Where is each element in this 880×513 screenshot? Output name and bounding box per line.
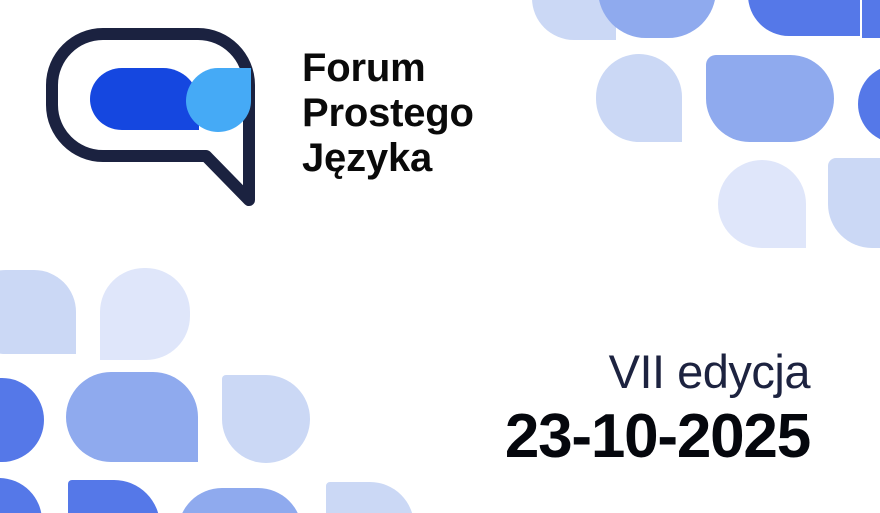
blob-tr-9: [828, 158, 880, 248]
event-date: 23-10-2025: [505, 404, 810, 469]
wordmark-line-2: Prostego: [302, 91, 474, 136]
blob-tr-3: [748, 0, 860, 36]
speech-bubble-logo-icon: [46, 28, 278, 206]
edition-label: VII edycja: [505, 347, 810, 396]
blob-tr-7: [858, 65, 880, 143]
bubble-inner-right-shape: [186, 68, 251, 132]
blob-tr-5: [596, 54, 682, 142]
blob-bl-1: [0, 270, 76, 354]
bubble-inner-left-shape: [90, 68, 199, 130]
blob-tr-2: [598, 0, 716, 38]
wordmark-line-3: Języka: [302, 136, 474, 181]
blob-tr-8: [718, 160, 806, 248]
blob-bl-6: [0, 478, 42, 513]
blob-bl-3: [0, 378, 44, 462]
blob-bl-9: [326, 482, 414, 513]
wordmark: Forum Prostego Języka: [302, 46, 474, 180]
blob-bl-7: [68, 480, 160, 513]
blob-tr-4: [862, 0, 880, 38]
blob-bl-4: [66, 372, 198, 462]
logo-lockup: Forum Prostego Języka: [46, 28, 474, 206]
event-date-block: VII edycja 23-10-2025: [505, 347, 810, 469]
blob-bl-5: [222, 375, 310, 463]
blob-bl-2: [100, 268, 190, 360]
wordmark-line-1: Forum: [302, 46, 474, 91]
blob-tr-6: [706, 55, 834, 142]
blob-bl-8: [178, 488, 302, 513]
poster-canvas: Forum Prostego Języka VII edycja 23-10-2…: [0, 0, 880, 513]
blob-tr-1: [532, 0, 616, 40]
